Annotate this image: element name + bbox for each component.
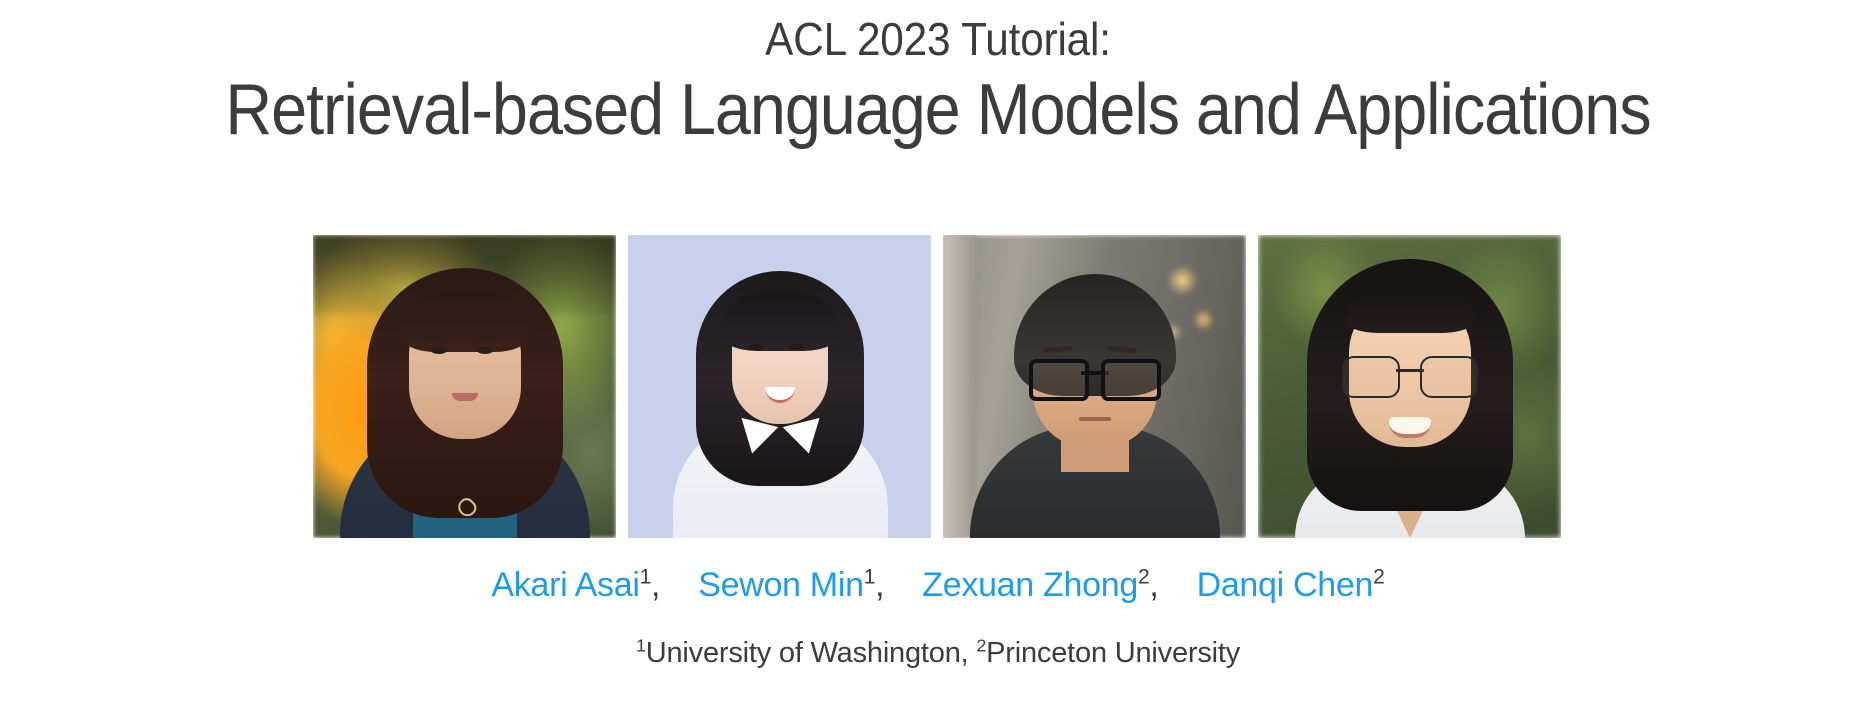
- author-photo-danqi-chen: [1258, 235, 1561, 538]
- photo-figure-bangs: [400, 290, 530, 352]
- glasses-lens-right: [1101, 359, 1161, 401]
- author-link-sewon-min[interactable]: Sewon Min1,: [698, 565, 884, 605]
- author-separator: ,: [651, 566, 660, 604]
- author-name: Sewon Min: [698, 566, 864, 604]
- photo-figure-eye-right: [789, 344, 803, 350]
- photo-figure-hair-part: [1346, 287, 1474, 333]
- photo-figure-mouth: [452, 393, 478, 401]
- author-separator: ,: [1149, 566, 1158, 604]
- affiliations-line: 1University of Washington, 2Princeton Un…: [0, 635, 1876, 671]
- title-line-2: Retrieval-based Language Models and Appl…: [94, 68, 1782, 152]
- author-affiliation-marker: 1: [864, 566, 875, 589]
- affiliation-marker-1: 1: [636, 635, 646, 655]
- author-photo-sewon-min: [628, 235, 931, 538]
- author-affiliation-marker: 2: [1373, 566, 1384, 589]
- page-title: ACL 2023 Tutorial: Retrieval-based Langu…: [0, 0, 1876, 152]
- photo-background-post: [943, 235, 976, 538]
- glasses-lens-right: [1420, 356, 1478, 398]
- author-photo-zexuan-zhong: [943, 235, 1246, 538]
- tutorial-title-slide: ACL 2023 Tutorial: Retrieval-based Langu…: [0, 0, 1876, 706]
- author-photo-akari-asai: [313, 235, 616, 538]
- title-line-1: ACL 2023 Tutorial:: [75, 10, 1801, 68]
- affiliation-name-2: Princeton University: [986, 637, 1240, 669]
- photo-figure-glasses: [1029, 359, 1161, 393]
- author-photo-row: [313, 235, 1571, 538]
- photo-figure-bangs: [720, 293, 840, 351]
- author-name: Akari Asai: [491, 566, 639, 604]
- glasses-lens-left: [1342, 356, 1400, 398]
- author-link-zexuan-zhong[interactable]: Zexuan Zhong2,: [922, 565, 1158, 605]
- affiliation-marker-2: 2: [976, 635, 986, 655]
- author-names-row: Akari Asai1,Sewon Min1,Zexuan Zhong2,Dan…: [0, 565, 1876, 605]
- author-link-akari-asai[interactable]: Akari Asai1,: [491, 565, 660, 605]
- photo-figure-eye-right: [477, 347, 493, 354]
- author-affiliation-marker: 2: [1138, 566, 1149, 589]
- photo-figure-smile: [1389, 417, 1431, 438]
- photo-figure-mouth: [1079, 417, 1111, 421]
- glasses-lens-left: [1029, 359, 1089, 401]
- affiliation-name-1: University of Washington,: [646, 637, 977, 669]
- author-affiliation-marker: 1: [640, 566, 651, 589]
- photo-figure-glasses: [1342, 356, 1478, 394]
- author-separator: ,: [875, 566, 884, 604]
- author-link-danqi-chen[interactable]: Danqi Chen2: [1197, 565, 1385, 605]
- author-name: Zexuan Zhong: [922, 566, 1138, 604]
- author-name: Danqi Chen: [1197, 566, 1374, 604]
